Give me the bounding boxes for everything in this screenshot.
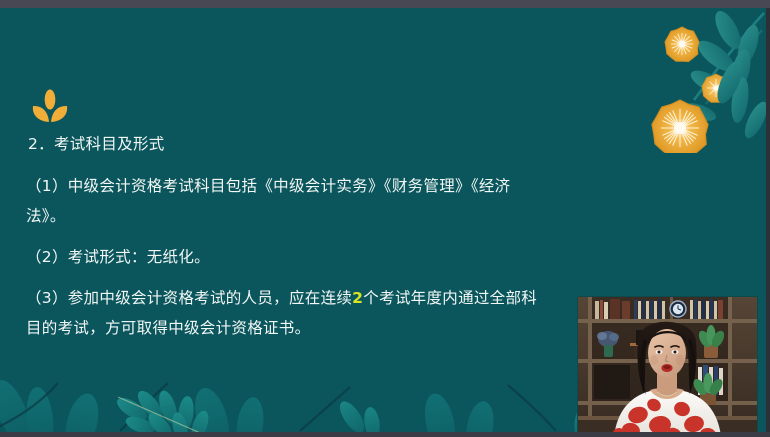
presenter-webcam[interactable] bbox=[577, 296, 758, 432]
paragraph-1-line-1: （1）中级会计资格考试科目包括《中级会计实务》《财务管理》《经济 bbox=[26, 171, 556, 201]
paragraph-3-text-before: （3）参加中级会计资格考试的人员，应在连续 bbox=[26, 289, 352, 307]
paragraph-1: （1）中级会计资格考试科目包括《中级会计实务》《财务管理》《经济 法》。 bbox=[26, 171, 556, 231]
window-bottom-bar bbox=[0, 432, 770, 437]
paragraph-2-line-1: （2）考试形式：无纸化。 bbox=[26, 242, 556, 272]
highlighted-number: 2 bbox=[352, 289, 363, 307]
window-top-bar bbox=[0, 0, 770, 8]
paragraph-3-line-2: 目的考试，方可取得中级会计资格证书。 bbox=[26, 313, 556, 343]
gold-flower-branch-icon bbox=[636, 8, 766, 153]
paragraph-spacer bbox=[26, 234, 556, 242]
slide-heading: 2．考试科目及形式 bbox=[26, 130, 556, 158]
paragraph-1-line-2: 法》。 bbox=[26, 201, 556, 231]
slide-body-text: 2．考试科目及形式 （1）中级会计资格考试科目包括《中级会计实务》《财务管理》《… bbox=[26, 130, 556, 346]
paragraph-2: （2）考试形式：无纸化。 bbox=[26, 242, 556, 272]
paragraph-3-text-after: 个考试年度内通过全部科 bbox=[363, 289, 537, 307]
paragraph-3-line-1: （3）参加中级会计资格考试的人员，应在连续2个考试年度内通过全部科 bbox=[26, 283, 556, 313]
screen-root: 2．考试科目及形式 （1）中级会计资格考试科目包括《中级会计实务》《财务管理》《… bbox=[0, 0, 770, 437]
slide-canvas: 2．考试科目及形式 （1）中级会计资格考试科目包括《中级会计实务》《财务管理》《… bbox=[0, 8, 766, 432]
window-right-bar bbox=[766, 8, 770, 437]
paragraph-3: （3）参加中级会计资格考试的人员，应在连续2个考试年度内通过全部科 目的考试，方… bbox=[26, 283, 556, 343]
paragraph-spacer bbox=[26, 275, 556, 283]
sprout-leaf-icon bbox=[28, 88, 72, 126]
